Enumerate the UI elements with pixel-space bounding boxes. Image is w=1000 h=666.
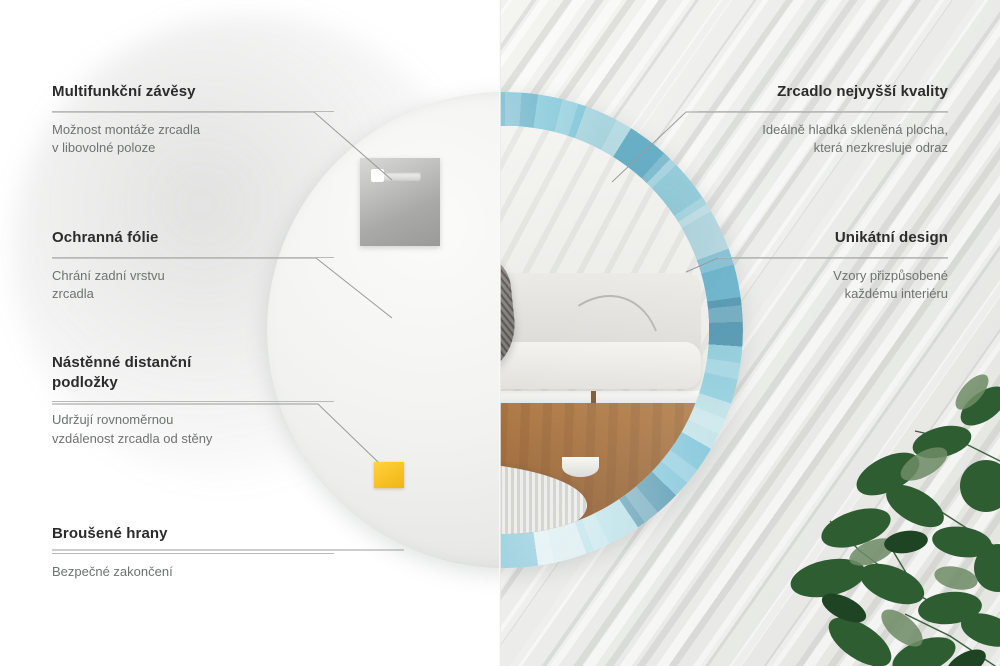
- callout-ochranna-folie: Ochranná fólie Chrání zadní vrstvu zrcad…: [52, 228, 334, 304]
- callout-title: Multifunkční závěsy: [52, 82, 334, 102]
- callout-nastenne-distancni-podlozky: Nástěnné distanční podložky Udržují rovn…: [52, 353, 334, 449]
- callout-zrcadlo-nejvyssi-kvality: Zrcadlo nejvyšší kvality Ideálně hladká …: [698, 82, 948, 158]
- callout-rule: [52, 111, 334, 112]
- callout-description: Udržují rovnoměrnou vzdálenost zrcadla o…: [52, 411, 334, 449]
- callout-rule: [52, 401, 334, 402]
- callout-rule: [52, 257, 334, 258]
- callout-brousene-hrany: Broušené hrany Bezpečné zakončení: [52, 524, 334, 581]
- callout-multifunkcni-zavesy: Multifunkční závěsy Možnost montáže zrca…: [52, 82, 334, 158]
- callout-title: Unikátní design: [718, 228, 948, 248]
- callout-title: Ochranná fólie: [52, 228, 334, 248]
- callout-unikatni-design: Unikátní design Vzory přizpůsobené každé…: [718, 228, 948, 304]
- infographic-stage: Multifunkční závěsy Možnost montáže zrca…: [0, 0, 1000, 666]
- callout-rule: [698, 111, 948, 112]
- callout-title: Broušené hrany: [52, 524, 334, 544]
- callout-description: Ideálně hladká skleněná plocha, která ne…: [698, 121, 948, 159]
- callout-description: Chrání zadní vrstvu zrcadla: [52, 267, 334, 305]
- callout-title: Zrcadlo nejvyšší kvality: [698, 82, 948, 102]
- callout-rule: [52, 553, 334, 554]
- callout-title: Nástěnné distanční podložky: [52, 353, 334, 392]
- callout-description: Možnost montáže zrcadla v libovolné polo…: [52, 121, 334, 159]
- callout-rule: [718, 257, 948, 258]
- callout-description: Bezpečné zakončení: [52, 563, 334, 582]
- callout-texts: Multifunkční závěsy Možnost montáže zrca…: [0, 0, 1000, 666]
- callout-description: Vzory přizpůsobené každému interiéru: [718, 267, 948, 305]
